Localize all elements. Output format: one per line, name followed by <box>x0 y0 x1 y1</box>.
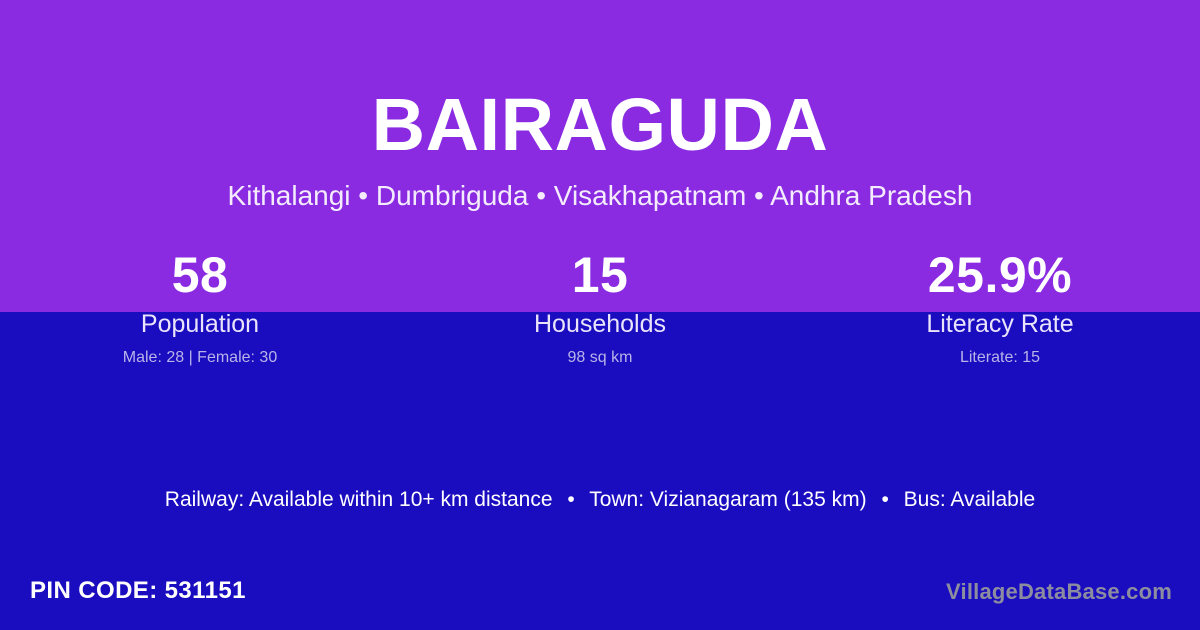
site-brand: VillageDataBase.com <box>946 578 1172 606</box>
stat-literacy-rate: 25.9% Literacy Rate Literate: 15 <box>800 246 1200 367</box>
card-footer: PIN CODE: 531151 VillageDataBase.com <box>0 572 1200 630</box>
stats-row: 58 Population Male: 28 | Female: 30 15 H… <box>0 246 1200 367</box>
stat-sublabel: 98 sq km <box>400 348 800 367</box>
stat-value: 25.9% <box>800 246 1200 304</box>
bullet-separator-icon: • <box>558 486 583 514</box>
bullet-separator-icon: • <box>872 486 897 514</box>
stat-sublabel: Male: 28 | Female: 30 <box>0 348 400 367</box>
stat-population: 58 Population Male: 28 | Female: 30 <box>0 246 400 367</box>
stat-label: Households <box>400 310 800 338</box>
stat-value: 58 <box>0 246 400 304</box>
stat-sublabel: Literate: 15 <box>800 348 1200 367</box>
stat-households: 15 Households 98 sq km <box>400 246 800 367</box>
stat-label: Literacy Rate <box>800 310 1200 338</box>
pin-code: PIN CODE: 531151 <box>30 576 246 606</box>
stat-label: Population <box>0 310 400 338</box>
breadcrumb: Kithalangi • Dumbriguda • Visakhapatnam … <box>0 182 1200 210</box>
bus-info: Bus: Available <box>904 488 1036 511</box>
town-info: Town: Vizianagaram (135 km) <box>589 488 866 511</box>
page-title: BAIRAGUDA <box>0 88 1200 162</box>
railway-info: Railway: Available within 10+ km distanc… <box>165 488 553 511</box>
stat-value: 15 <box>400 246 800 304</box>
village-info-card: BAIRAGUDA Kithalangi • Dumbriguda • Visa… <box>0 0 1200 630</box>
transport-info-line: Railway: Available within 10+ km distanc… <box>0 486 1200 514</box>
